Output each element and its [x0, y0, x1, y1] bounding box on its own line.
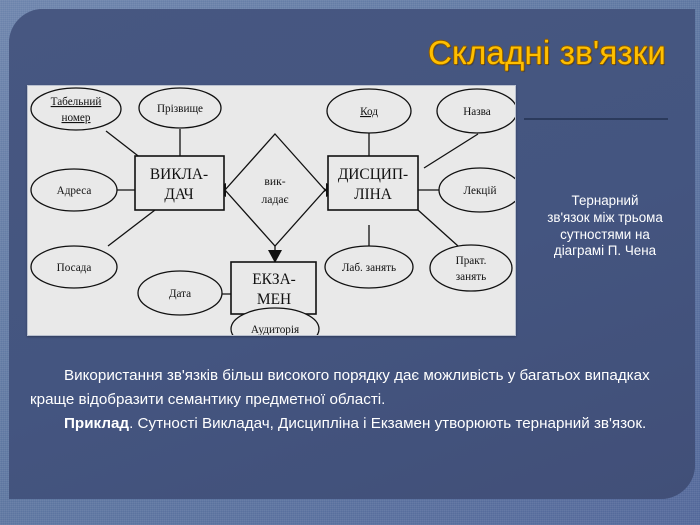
caption-line-1: Тернарний [519, 193, 691, 210]
svg-text:ЛІНА: ЛІНА [354, 186, 392, 203]
attribute-lab-hours: Лаб. занять [325, 246, 413, 288]
svg-text:Лаб. занять: Лаб. занять [342, 262, 396, 274]
attribute-lectures: Лекцій [439, 168, 515, 212]
svg-text:Табельний: Табельний [51, 96, 102, 108]
svg-text:Посада: Посада [57, 262, 92, 274]
entity-teacher: ВИКЛА- ДАЧ [135, 156, 224, 210]
attribute-name: Назва [437, 89, 515, 133]
attribute-surname: Прізвище [139, 88, 221, 128]
example-label: Приклад [64, 415, 129, 432]
body-paragraph-2: Приклад. Сутності Викладач, Дисципліна і… [30, 412, 678, 436]
svg-text:занять: занять [456, 271, 487, 283]
slide: Складні зв'язки [0, 0, 700, 525]
svg-text:Дата: Дата [169, 288, 191, 300]
body-paragraph-1: Використання зв'язків більш високого пор… [30, 364, 678, 412]
attribute-prac-hours: Практ. занять [430, 245, 512, 291]
caption-line-2: зв'язок між трьома [519, 210, 691, 227]
svg-text:МЕН: МЕН [257, 291, 291, 308]
attribute-code: Код [327, 89, 411, 133]
caption-line-3: сутностями на [519, 227, 691, 244]
svg-text:номер: номер [61, 112, 90, 124]
svg-text:Назва: Назва [463, 106, 491, 118]
svg-text:Практ.: Практ. [456, 255, 487, 267]
edge-position [108, 210, 155, 246]
svg-text:Код: Код [360, 106, 378, 118]
svg-text:Прізвище: Прізвище [157, 103, 203, 115]
page-title: Складні зв'язки [428, 34, 666, 72]
svg-text:Аудиторія: Аудиторія [251, 324, 299, 335]
caption-divider [524, 118, 668, 120]
entity-exam: ЕКЗА- МЕН [231, 262, 316, 314]
attribute-address: Адреса [31, 169, 117, 211]
content-panel: Складні зв'язки [9, 9, 695, 499]
caption-line-4: діаграмі П. Чена [519, 243, 691, 260]
body-text-block: Використання зв'язків більш високого пор… [30, 364, 678, 436]
example-text: . Сутності Викладач, Дисципліна і Екзаме… [129, 415, 646, 432]
svg-text:ЕКЗА-: ЕКЗА- [252, 271, 296, 288]
svg-text:Лекцій: Лекцій [464, 185, 497, 197]
svg-text:ладає: ладає [262, 193, 289, 206]
svg-text:Адреса: Адреса [57, 185, 92, 197]
svg-text:ДАЧ: ДАЧ [164, 186, 193, 203]
attribute-tab-number: Табельний номер [31, 88, 121, 130]
attribute-position: Посада [31, 246, 117, 288]
attribute-date: Дата [138, 271, 222, 315]
er-diagram-image: ВИКЛА- ДАЧ ДИСЦИП- ЛІНА ЕКЗА- МЕН [27, 85, 516, 336]
svg-text:ВИКЛА-: ВИКЛА- [150, 166, 208, 183]
edge-name [424, 134, 478, 168]
edge-prac [418, 210, 458, 246]
svg-text:ДИСЦИП-: ДИСЦИП- [338, 166, 408, 183]
svg-text:вик-: вик- [264, 175, 285, 188]
entity-discipline: ДИСЦИП- ЛІНА [328, 156, 418, 210]
diagram-caption: Тернарний зв'язок між трьома сутностями … [519, 193, 691, 260]
relationship-teaches: вик- ладає [225, 134, 325, 246]
